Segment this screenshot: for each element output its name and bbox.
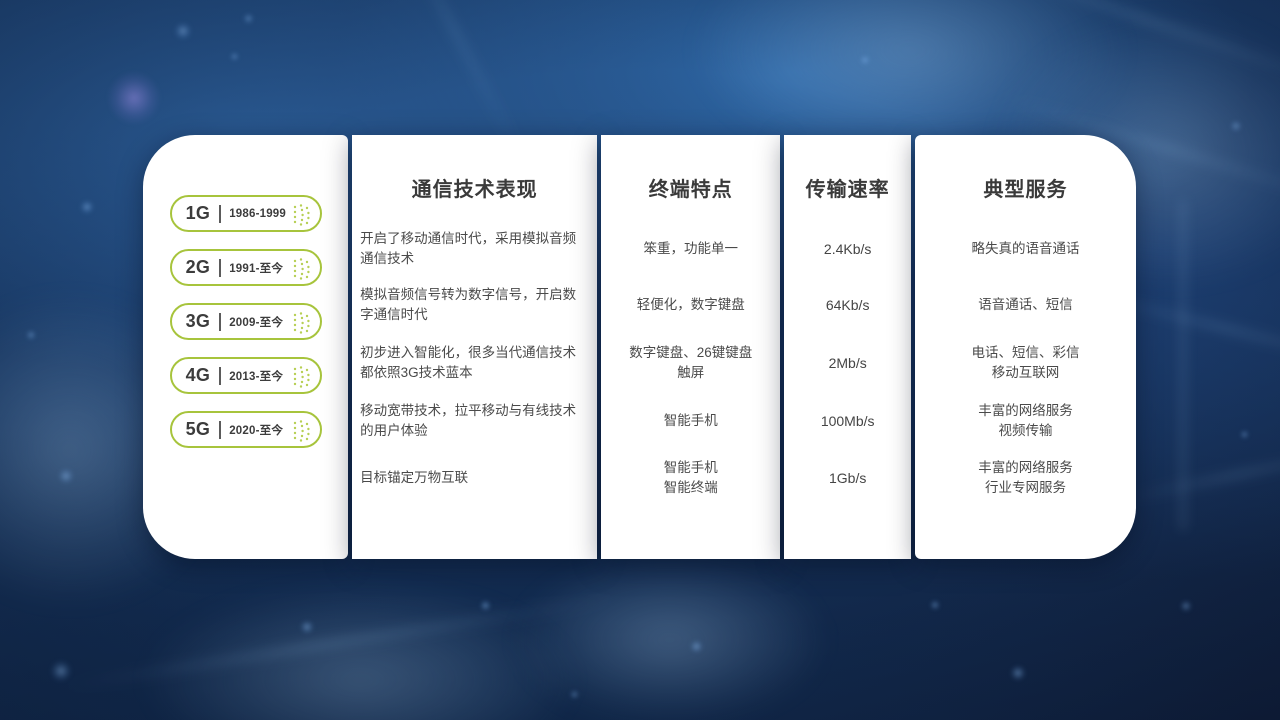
- table-cell-speed-3g: 2Mb/s: [784, 333, 910, 392]
- column-header-terminal: 终端特点: [601, 135, 780, 202]
- table-cell-service-5g: 丰富的网络服务行业专网服务: [915, 450, 1136, 506]
- generation-badge-list: 1G 1986-1999 2G 1991-至今: [143, 173, 348, 448]
- table-cell-service-4g: 丰富的网络服务视频传输: [915, 392, 1136, 450]
- terminal-cells: 笨重，功能单一 轻便化，数字键盘 数字键盘、26键键盘触屏 智能手机 智能手机智…: [601, 202, 780, 506]
- signal-wave-icon: [291, 419, 313, 449]
- badge-divider: [219, 313, 221, 331]
- badge-divider: [219, 205, 221, 223]
- generation-years: 2020-至今: [229, 422, 283, 438]
- badge-divider: [219, 259, 221, 277]
- table-cell-terminal-1g: 笨重，功能单一: [601, 222, 780, 276]
- signal-wave-icon: [291, 203, 313, 233]
- table-cell-terminal-5g: 智能手机智能终端: [601, 450, 780, 506]
- table-cell-speed-5g: 1Gb/s: [784, 450, 910, 506]
- generation-badge-5g[interactable]: 5G 2020-至今: [170, 411, 322, 448]
- badge-divider: [219, 421, 221, 439]
- table-cell-tech-1g: 开启了移动通信时代，采用模拟音频通信技术: [352, 222, 597, 276]
- generation-badge-2g[interactable]: 2G 1991-至今: [170, 249, 322, 286]
- table-cell-speed-4g: 100Mb/s: [784, 392, 910, 450]
- signal-wave-icon: [291, 311, 313, 341]
- table-cell-terminal-3g: 数字键盘、26键键盘触屏: [601, 333, 780, 392]
- service-column: 典型服务 略失真的语音通话 语音通话、短信 电话、短信、彩信移动互联网 丰富的网…: [915, 135, 1136, 559]
- generation-label: 1G: [186, 203, 211, 224]
- service-cells: 略失真的语音通话 语音通话、短信 电话、短信、彩信移动互联网 丰富的网络服务视频…: [915, 202, 1136, 506]
- table-cell-service-3g: 电话、短信、彩信移动互联网: [915, 333, 1136, 392]
- generation-badge-4g[interactable]: 4G 2013-至今: [170, 357, 322, 394]
- column-header-generations: [143, 135, 348, 173]
- generation-years: 1991-至今: [229, 260, 283, 276]
- generation-label: 3G: [186, 311, 211, 332]
- table-cell-service-2g: 语音通话、短信: [915, 276, 1136, 333]
- table-cell-tech-5g: 目标锚定万物互联: [352, 450, 597, 506]
- generation-years: 1986-1999: [229, 208, 286, 220]
- speed-column: 传输速率 2.4Kb/s 64Kb/s 2Mb/s 100Mb/s 1Gb/s: [784, 135, 910, 559]
- column-header-speed: 传输速率: [784, 135, 910, 202]
- generation-label: 2G: [186, 257, 211, 278]
- table-cell-speed-2g: 64Kb/s: [784, 276, 910, 333]
- table-cell-tech-4g: 移动宽带技术，拉平移动与有线技术的用户体验: [352, 392, 597, 450]
- generation-label: 5G: [186, 419, 211, 440]
- table-cell-terminal-4g: 智能手机: [601, 392, 780, 450]
- terminal-column: 终端特点 笨重，功能单一 轻便化，数字键盘 数字键盘、26键键盘触屏 智能手机 …: [601, 135, 780, 559]
- table-cell-tech-2g: 模拟音频信号转为数字信号，开启数字通信时代: [352, 276, 597, 333]
- column-header-tech: 通信技术表现: [352, 135, 597, 202]
- table-cell-speed-1g: 2.4Kb/s: [784, 222, 910, 276]
- column-header-service: 典型服务: [915, 135, 1136, 202]
- generations-column: 1G 1986-1999 2G 1991-至今: [143, 135, 348, 559]
- tech-cells: 开启了移动通信时代，采用模拟音频通信技术 模拟音频信号转为数字信号，开启数字通信…: [352, 202, 597, 506]
- signal-wave-icon: [291, 365, 313, 395]
- speed-cells: 2.4Kb/s 64Kb/s 2Mb/s 100Mb/s 1Gb/s: [784, 202, 910, 506]
- generation-label: 4G: [186, 365, 211, 386]
- table-cell-terminal-2g: 轻便化，数字键盘: [601, 276, 780, 333]
- tech-column: 通信技术表现 开启了移动通信时代，采用模拟音频通信技术 模拟音频信号转为数字信号…: [352, 135, 597, 559]
- table-cell-service-1g: 略失真的语音通话: [915, 222, 1136, 276]
- generation-years: 2013-至今: [229, 368, 283, 384]
- generation-years: 2009-至今: [229, 314, 283, 330]
- signal-wave-icon: [291, 257, 313, 287]
- badge-divider: [219, 367, 221, 385]
- table-cell-tech-3g: 初步进入智能化，很多当代通信技术都依照3G技术蓝本: [352, 333, 597, 392]
- generation-badge-3g[interactable]: 3G 2009-至今: [170, 303, 322, 340]
- comparison-table: 1G 1986-1999 2G 1991-至今: [143, 135, 1136, 559]
- generation-badge-1g[interactable]: 1G 1986-1999: [170, 195, 322, 232]
